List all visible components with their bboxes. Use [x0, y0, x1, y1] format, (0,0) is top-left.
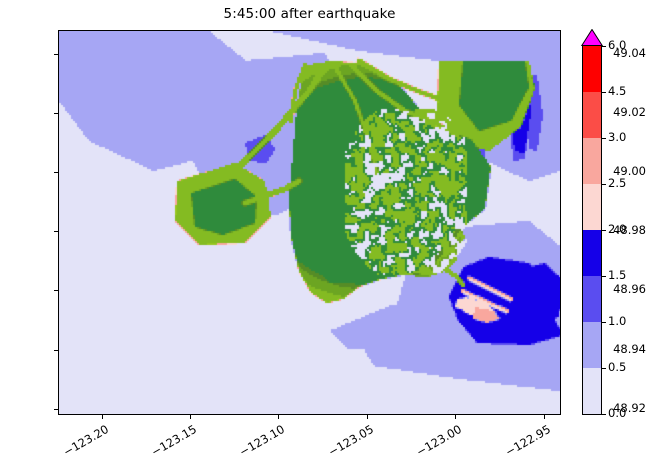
colorbar-tick-mark [602, 92, 606, 93]
page-title: 5:45:00 after earthquake [58, 6, 561, 22]
colorbar-band [583, 321, 601, 368]
colorbar-tick-mark [602, 368, 606, 369]
y-tick-mark [54, 231, 58, 232]
y-tick-label: 48.96 [598, 282, 646, 296]
x-tick-label: −123.15 [138, 422, 199, 465]
colorbar-tick-label: 3.0 [608, 130, 626, 144]
x-tick-label: −123.05 [315, 422, 376, 465]
x-tick-label: −122.95 [492, 422, 553, 465]
x-tick-label: −123.00 [403, 422, 464, 465]
colorbar-tick-label: 2.0 [608, 222, 626, 236]
colorbar-tick-mark [602, 46, 606, 47]
y-tick-label: 48.94 [598, 342, 646, 356]
x-tick-mark [190, 415, 191, 419]
colorbar[interactable] [582, 45, 602, 415]
figure-canvas: 5:45:00 after earthquake 49.0449.0249.00… [0, 0, 646, 469]
colorbar-band [583, 183, 601, 230]
colorbar-band [583, 137, 601, 184]
colorbar-tick-label: 1.0 [608, 314, 626, 328]
colorbar-tick-label: 4.5 [608, 84, 626, 98]
map-axes[interactable] [58, 30, 561, 415]
x-tick-mark [102, 415, 103, 419]
colorbar-tick-mark [602, 414, 606, 415]
y-tick-mark [54, 113, 58, 114]
colorbar-tick-label: 0.0 [608, 406, 626, 420]
colorbar-band [583, 229, 601, 276]
y-tick-label: 49.02 [598, 105, 646, 119]
colorbar-tick-label: 0.5 [608, 360, 626, 374]
colorbar-tick-mark [602, 138, 606, 139]
colorbar-band [583, 367, 601, 414]
colorbar-tick-mark [602, 322, 606, 323]
colorbar-tick-label: 6.0 [608, 38, 626, 52]
colorbar-tick-mark [602, 184, 606, 185]
colorbar-tick-mark [602, 276, 606, 277]
colorbar-extend-arrow-icon [581, 29, 603, 46]
x-tick-mark [278, 415, 279, 419]
colorbar-tick-label: 1.5 [608, 268, 626, 282]
colorbar-tick-label: 2.5 [608, 176, 626, 190]
x-tick-label: −123.20 [50, 422, 111, 465]
x-tick-mark [455, 415, 456, 419]
y-tick-mark [54, 290, 58, 291]
x-tick-mark [367, 415, 368, 419]
colorbar-band [583, 45, 601, 92]
y-tick-mark [54, 172, 58, 173]
y-tick-mark [54, 350, 58, 351]
x-tick-mark [544, 415, 545, 419]
tsunami-amplitude-heatmap [59, 31, 560, 414]
colorbar-band [583, 275, 601, 322]
x-tick-label: −123.10 [226, 422, 287, 465]
colorbar-tick-mark [602, 230, 606, 231]
y-tick-mark [54, 54, 58, 55]
y-tick-mark [54, 409, 58, 410]
colorbar-band [583, 91, 601, 138]
